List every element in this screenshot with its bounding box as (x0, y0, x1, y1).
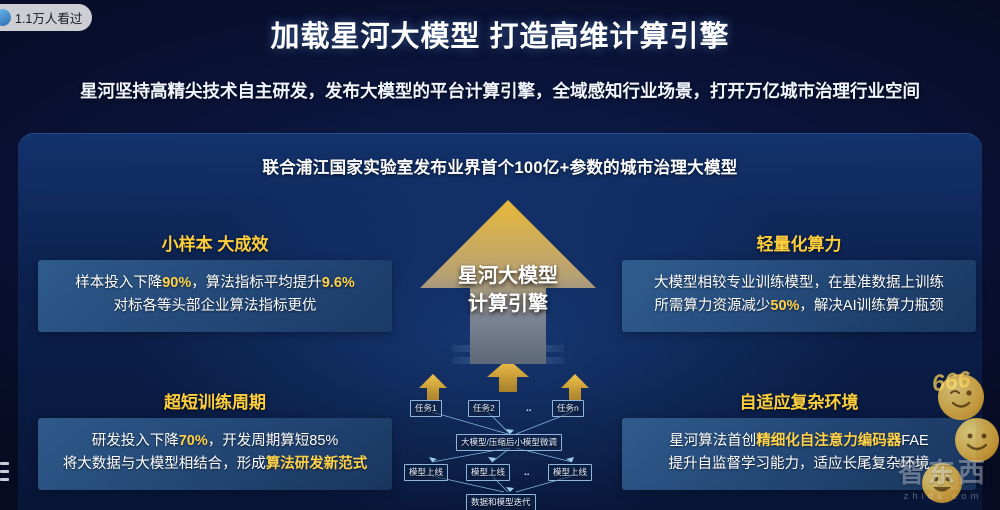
card-line: 星河算法首创精细化自注意力编码器FAE (632, 430, 966, 453)
watermark: 智东西 zhidx.com (898, 451, 988, 502)
user-avatar-icon (0, 9, 11, 26)
feature-card-lightweight-compute: 轻量化算力 大模型相较专业训练模型，在基准数据上训练 所需算力资源减少50%，解… (622, 230, 976, 332)
card-body: 样本投入下降90%，算法指标平均提升9.6% 对标各等头部企业算法指标更优 (38, 260, 392, 332)
flow-node-deploy: 模型上线 (466, 464, 510, 481)
watermark-url: zhidx.com (898, 491, 988, 502)
feature-card-ultra-short-training: 超短训练周期 研发投入下降70%，开发周期算短85% 将大数据与大模型相结合，形… (38, 388, 392, 490)
flow-node-task: 任务2 (468, 400, 500, 417)
card-line: 对标各等头部企业算法指标更优 (48, 295, 382, 318)
card-line: 样本投入下降90%，算法指标平均提升9.6% (48, 272, 382, 295)
flow-node-deploy: 模型上线 (404, 464, 448, 481)
ui-stub-marker (0, 470, 9, 473)
card-body: 大模型相较专业训练模型，在基准数据上训练 所需算力资源减少50%，解决AI训练算… (622, 260, 976, 332)
card-line: 所需算力资源减少50%，解决AI训练算力瓶颈 (632, 295, 966, 318)
viewer-count-label: 1.1万人看过 (15, 8, 82, 27)
flow-node-task: 任务1 (410, 400, 442, 417)
card-body: 研发投入下降70%，开发周期算短85% 将大数据与大模型相结合，形成算法研发新范… (38, 418, 392, 490)
card-title: 小样本 大成效 (38, 230, 392, 255)
hero-label: 星河大模型 计算引擎 (418, 262, 598, 319)
flow-ellipsis-tasks: .. (526, 403, 532, 414)
page-title: 加载星河大模型 打造高维计算引擎 (0, 13, 1000, 55)
hero-label-line1: 星河大模型 (418, 262, 598, 290)
flow-node-deploy: 模型上线 (548, 464, 592, 481)
wink-emoji (938, 374, 984, 420)
card-title: 轻量化算力 (622, 230, 976, 255)
card-line: 将大数据与大模型相结合，形成算法研发新范式 (48, 453, 382, 476)
panel-banner-text: 联合浦江国家实验室发布业界首个100亿+参数的城市治理大模型 (18, 154, 982, 178)
ui-stub-marker (0, 462, 9, 465)
pipeline-flowchart: 任务1 任务2 .. 任务n 大模型/压缩后小模型微调 模型上线 模型上线 ..… (400, 392, 620, 510)
card-title: 超短训练周期 (38, 388, 392, 413)
flow-node-iterate: 数据和模型迭代 (466, 494, 536, 510)
card-line: 研发投入下降70%，开发周期算短85% (48, 430, 382, 453)
flow-node-task: 任务n (552, 400, 584, 417)
ui-stub-marker (0, 478, 9, 481)
flow-ellipsis-deploy: .. (524, 467, 530, 478)
hero-label-line2: 计算引擎 (418, 290, 598, 318)
slide-stage: 1.1万人看过 加载星河大模型 打造高维计算引擎 星河坚持高精尖技术自主研发，发… (0, 0, 1000, 510)
feature-card-small-sample: 小样本 大成效 样本投入下降90%，算法指标平均提升9.6% 对标各等头部企业算… (38, 230, 392, 332)
watermark-brand: 智东西 (898, 451, 988, 490)
flow-node-finetune: 大模型/压缩后小模型微调 (456, 434, 562, 451)
viewer-count-badge: 1.1万人看过 (0, 4, 92, 31)
card-line: 大模型相较专业训练模型，在基准数据上训练 (632, 272, 966, 295)
page-subtitle: 星河坚持高精尖技术自主研发，发布大模型的平台计算引擎，全域感知行业场景，打开万亿… (14, 78, 986, 104)
card-title: 自适应复杂环境 (622, 388, 976, 413)
